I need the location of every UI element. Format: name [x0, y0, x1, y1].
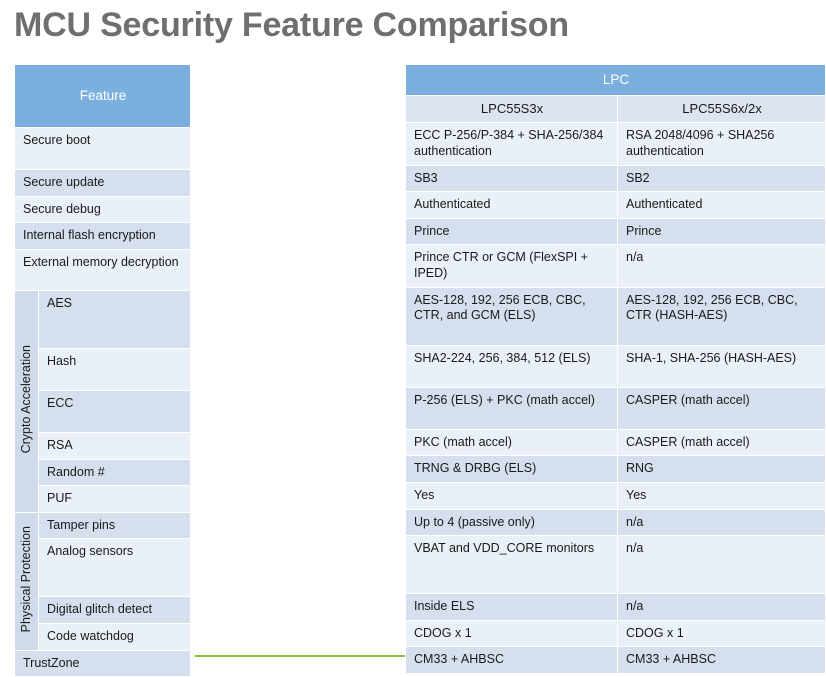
feature-label: Random # [39, 459, 191, 486]
lpc-row: TRNG & DRBG (ELS)RNG [406, 456, 826, 483]
lpc-cell-1: n/a [618, 594, 826, 621]
lpc-cell-0: VBAT and VDD_CORE monitors [406, 536, 618, 594]
lpc-row: Up to 4 (passive only)n/a [406, 509, 826, 536]
lpc-cell-1: Yes [618, 482, 826, 509]
feature-label: TrustZone [15, 650, 191, 677]
lpc-row: CDOG x 1CDOG x 1 [406, 620, 826, 647]
lpc-cell-0: Authenticated [406, 192, 618, 219]
lpc-row: P-256 (ELS) + PKC (math accel)CASPER (ma… [406, 387, 826, 429]
lpc-cell-0: TRNG & DRBG (ELS) [406, 456, 618, 483]
lpc-cell-1: n/a [618, 245, 826, 287]
lpc-cell-0: Inside ELS [406, 594, 618, 621]
feature-label: Code watchdog [39, 624, 191, 651]
feature-row: TrustZone [15, 650, 191, 677]
feature-label: RSA [39, 432, 191, 459]
lpc-cell-1: RSA 2048/4096 + SHA256 authentication [618, 123, 826, 165]
feature-label: Secure boot [15, 128, 191, 170]
feature-label: Internal flash encryption [15, 223, 191, 250]
lpc-cell-1: n/a [618, 536, 826, 594]
lpc-row: PKC (math accel)CASPER (math accel) [406, 429, 826, 456]
lpc-row: SHA2-224, 256, 384, 512 (ELS)SHA-1, SHA-… [406, 345, 826, 387]
feature-row: Secure update [15, 170, 191, 197]
feature-row: PUF [15, 486, 191, 513]
lpc-cell-1: CASPER (math accel) [618, 429, 826, 456]
feature-label: Digital glitch detect [39, 597, 191, 624]
lpc-group-header: LPC [406, 65, 826, 96]
lpc-row: Prince CTR or GCM (FlexSPI + IPED)n/a [406, 245, 826, 287]
feature-row: Internal flash encryption [15, 223, 191, 250]
lpc-cell-1: SHA-1, SHA-256 (HASH-AES) [618, 345, 826, 387]
feature-row: Code watchdog [15, 624, 191, 651]
lpc-column-header-0: LPC55S3x [406, 96, 618, 123]
feature-row: Random # [15, 459, 191, 486]
lpc-row: SB3SB2 [406, 165, 826, 192]
feature-label: Secure update [15, 170, 191, 197]
lpc-cell-1: CM33 + AHBSC [618, 647, 826, 674]
feature-label: Hash [39, 348, 191, 390]
lpc-cell-0: AES-128, 192, 256 ECB, CBC, CTR, and GCM… [406, 287, 618, 345]
feature-label: PUF [39, 486, 191, 513]
lpc-cell-0: Prince [406, 218, 618, 245]
lpc-cell-1: Prince [618, 218, 826, 245]
lpc-cell-1: AES-128, 192, 256 ECB, CBC, CTR (HASH-AE… [618, 287, 826, 345]
lpc-cell-1: n/a [618, 509, 826, 536]
lpc-cell-0: CM33 + AHBSC [406, 647, 618, 674]
lpc-row: VBAT and VDD_CORE monitorsn/a [406, 536, 826, 594]
lpc-row: AuthenticatedAuthenticated [406, 192, 826, 219]
content-placeholder[interactable] [195, 62, 405, 657]
feature-row: External memory decryption [15, 249, 191, 290]
lpc-cell-1: Authenticated [618, 192, 826, 219]
feature-row: RSA [15, 432, 191, 459]
lpc-row: Inside ELSn/a [406, 594, 826, 621]
lpc-table: LPCLPC55S3xLPC55S6x/2xECC P-256/P-384 + … [405, 64, 826, 674]
lpc-cell-1: SB2 [618, 165, 826, 192]
lpc-row: CM33 + AHBSCCM33 + AHBSC [406, 647, 826, 674]
lpc-cell-0: ECC P-256/P-384 + SHA-256/384 authentica… [406, 123, 618, 165]
feature-row: Hash [15, 348, 191, 390]
feature-row: Digital glitch detect [15, 597, 191, 624]
lpc-cell-0: SHA2-224, 256, 384, 512 (ELS) [406, 345, 618, 387]
feature-label: AES [39, 290, 191, 348]
lpc-cell-0: Yes [406, 482, 618, 509]
feature-label: Tamper pins [39, 512, 191, 539]
lpc-cell-1: CDOG x 1 [618, 620, 826, 647]
group-label-text: Crypto Acceleration [19, 345, 35, 453]
feature-row: Physical ProtectionTamper pins [15, 512, 191, 539]
lpc-cell-0: SB3 [406, 165, 618, 192]
feature-row: Secure boot [15, 128, 191, 170]
lpc-cell-0: P-256 (ELS) + PKC (math accel) [406, 387, 618, 429]
lpc-cell-0: PKC (math accel) [406, 429, 618, 456]
feature-table: FeatureSecure bootSecure updateSecure de… [14, 64, 191, 677]
feature-label: ECC [39, 390, 191, 432]
feature-group-label-crypto: Crypto Acceleration [15, 290, 39, 512]
feature-label: Secure debug [15, 196, 191, 223]
lpc-cell-1: CASPER (math accel) [618, 387, 826, 429]
feature-row: Crypto AccelerationAES [15, 290, 191, 348]
feature-label: Analog sensors [39, 539, 191, 597]
page-title: MCU Security Feature Comparison [14, 6, 569, 45]
group-label-text: Physical Protection [19, 526, 35, 632]
feature-row: Analog sensors [15, 539, 191, 597]
lpc-row: YesYes [406, 482, 826, 509]
feature-group-label-physical: Physical Protection [15, 512, 39, 650]
lpc-cell-1: RNG [618, 456, 826, 483]
feature-column-header: Feature [15, 65, 191, 128]
lpc-cell-0: Up to 4 (passive only) [406, 509, 618, 536]
lpc-row: AES-128, 192, 256 ECB, CBC, CTR, and GCM… [406, 287, 826, 345]
lpc-row: PrincePrince [406, 218, 826, 245]
lpc-row: ECC P-256/P-384 + SHA-256/384 authentica… [406, 123, 826, 165]
feature-label: External memory decryption [15, 249, 191, 290]
feature-row: Secure debug [15, 196, 191, 223]
lpc-column-header-1: LPC55S6x/2x [618, 96, 826, 123]
feature-row: ECC [15, 390, 191, 432]
lpc-cell-0: Prince CTR or GCM (FlexSPI + IPED) [406, 245, 618, 287]
lpc-cell-0: CDOG x 1 [406, 620, 618, 647]
